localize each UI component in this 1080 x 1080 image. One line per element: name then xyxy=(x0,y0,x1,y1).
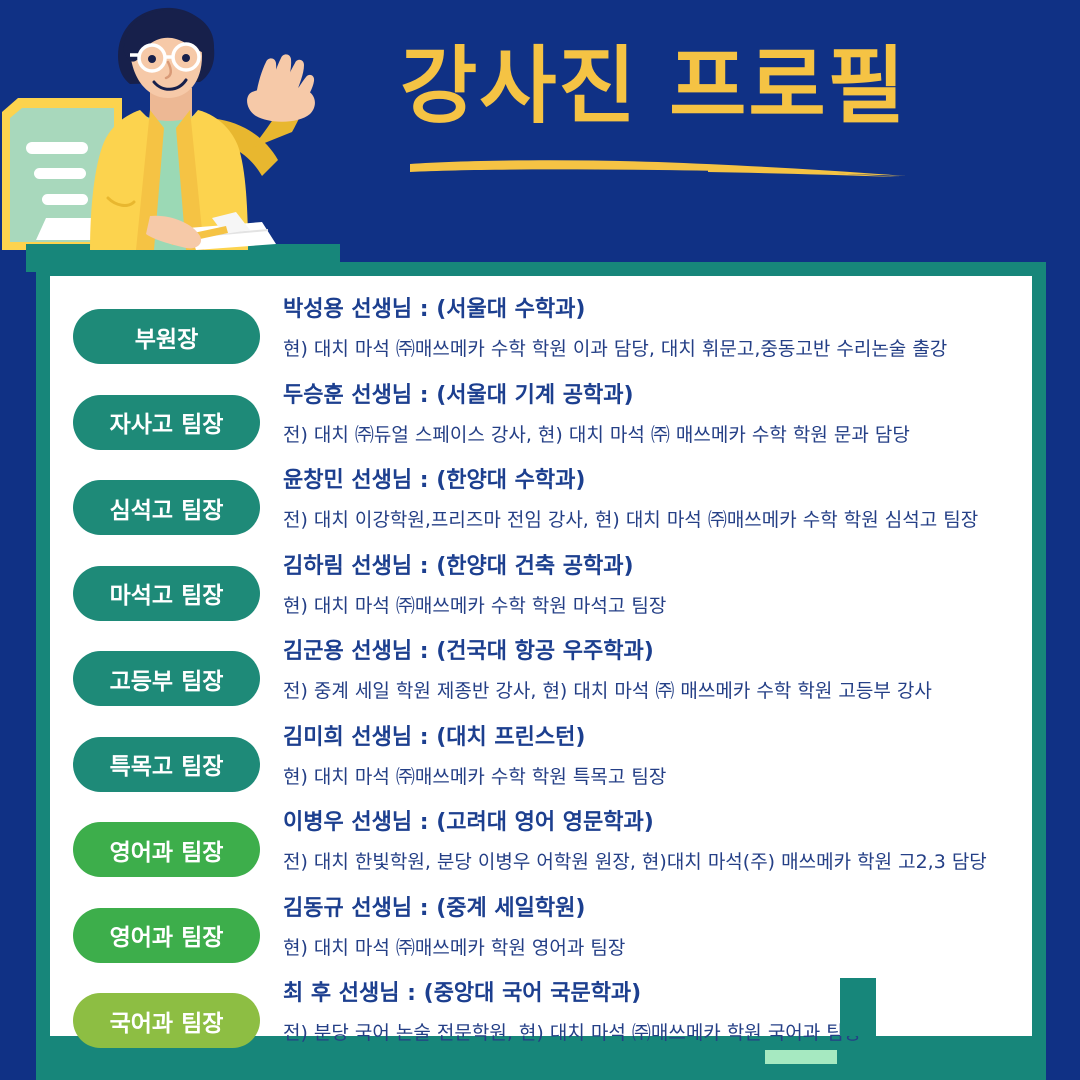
instructor-career: 전) 분당 국어 논술 전문학원, 현) 대치 마석 ㈜매쓰메카 학원 국어과 … xyxy=(283,1005,1028,1043)
instructor-text: 최 후 선생님 : (중앙대 국어 국문학과)전) 분당 국어 논술 전문학원,… xyxy=(283,980,1028,1043)
instructor-career: 전) 대치 이강학원,프리즈마 전임 강사, 현) 대치 마석 ㈜매쓰메카 수학… xyxy=(283,492,1028,530)
instructor-row: 영어과 팀장이병우 선생님 : (고려대 영어 영문학과)전) 대치 한빛학원,… xyxy=(50,809,1032,895)
instructor-career: 현) 대치 마석 ㈜매쓰메카 수학 학원 마석고 팀장 xyxy=(283,578,1028,616)
instructor-text: 윤창민 선생님 : (한양대 수학과)전) 대치 이강학원,프리즈마 전임 강사… xyxy=(283,467,1028,530)
instructor-name: 이병우 선생님 : (고려대 영어 영문학과) xyxy=(283,809,1028,834)
role-badge: 영어과 팀장 xyxy=(73,822,260,877)
instructor-row: 고등부 팀장김군용 선생님 : (건국대 항공 우주학과)전) 중계 세일 학원… xyxy=(50,638,1032,724)
page-title: 강사진 프로필 xyxy=(400,42,960,130)
role-badge: 국어과 팀장 xyxy=(73,993,260,1048)
instructors-card-frame: 부원장박성용 선생님 : (서울대 수학과)현) 대치 마석 ㈜매쓰메카 수학 … xyxy=(36,262,1046,1080)
card-mint-accent-bar xyxy=(765,1050,837,1064)
instructor-career: 전) 대치 한빛학원, 분당 이병우 어학원 원장, 현)대치 마석(주) 매쓰… xyxy=(283,834,1028,872)
instructor-career: 전) 중계 세일 학원 제종반 강사, 현) 대치 마석 ㈜ 매쓰메카 수학 학… xyxy=(283,663,1028,701)
raised-hand-icon xyxy=(247,54,315,121)
role-badge: 심석고 팀장 xyxy=(73,480,260,535)
instructor-row: 심석고 팀장윤창민 선생님 : (한양대 수학과)전) 대치 이강학원,프리즈마… xyxy=(50,467,1032,553)
page-header: 강사진 프로필 xyxy=(0,0,1080,262)
instructor-row: 자사고 팀장두승훈 선생님 : (서울대 기계 공학과)전) 대치 ㈜듀얼 스페… xyxy=(50,382,1032,468)
role-badge: 마석고 팀장 xyxy=(73,566,260,621)
instructor-name: 최 후 선생님 : (중앙대 국어 국문학과) xyxy=(283,980,1028,1005)
instructor-name: 두승훈 선생님 : (서울대 기계 공학과) xyxy=(283,382,1028,407)
title-block: 강사진 프로필 xyxy=(400,42,960,202)
instructor-text: 김미희 선생님 : (대치 프린스턴)현) 대치 마석 ㈜매쓰메카 수학 학원 … xyxy=(283,724,1028,787)
instructor-text: 김동규 선생님 : (중계 세일학원)현) 대치 마석 ㈜매쓰메카 학원 영어과… xyxy=(283,895,1028,958)
instructor-name: 윤창민 선생님 : (한양대 수학과) xyxy=(283,467,1028,492)
role-badge: 자사고 팀장 xyxy=(73,395,260,450)
role-badge: 특목고 팀장 xyxy=(73,737,260,792)
instructor-text: 김하림 선생님 : (한양대 건축 공학과)현) 대치 마석 ㈜매쓰메카 수학 … xyxy=(283,553,1028,616)
role-badge: 영어과 팀장 xyxy=(73,908,260,963)
instructor-name: 김군용 선생님 : (건국대 항공 우주학과) xyxy=(283,638,1028,663)
instructor-row: 마석고 팀장김하림 선생님 : (한양대 건축 공학과)현) 대치 마석 ㈜매쓰… xyxy=(50,553,1032,639)
instructor-list: 부원장박성용 선생님 : (서울대 수학과)현) 대치 마석 ㈜매쓰메카 수학 … xyxy=(50,276,1032,1036)
instructor-row: 국어과 팀장최 후 선생님 : (중앙대 국어 국문학과)전) 분당 국어 논술… xyxy=(50,980,1032,1066)
instructor-text: 두승훈 선생님 : (서울대 기계 공학과)전) 대치 ㈜듀얼 스페이스 강사,… xyxy=(283,382,1028,445)
role-badge: 부원장 xyxy=(73,309,260,364)
card-corner-notch xyxy=(840,978,876,1036)
instructor-career: 현) 대치 마석 ㈜매쓰메카 학원 영어과 팀장 xyxy=(283,920,1028,958)
title-underline-stroke xyxy=(408,154,908,182)
instructor-name: 김미희 선생님 : (대치 프린스턴) xyxy=(283,724,1028,749)
instructor-name: 김하림 선생님 : (한양대 건축 공학과) xyxy=(283,553,1028,578)
instructor-row: 영어과 팀장김동규 선생님 : (중계 세일학원)현) 대치 마석 ㈜매쓰메카 … xyxy=(50,895,1032,981)
instructor-text: 이병우 선생님 : (고려대 영어 영문학과)전) 대치 한빛학원, 분당 이병… xyxy=(283,809,1028,872)
instructor-row: 특목고 팀장김미희 선생님 : (대치 프린스턴)현) 대치 마석 ㈜매쓰메카 … xyxy=(50,724,1032,810)
instructor-row: 부원장박성용 선생님 : (서울대 수학과)현) 대치 마석 ㈜매쓰메카 수학 … xyxy=(50,296,1032,382)
instructors-card: 부원장박성용 선생님 : (서울대 수학과)현) 대치 마석 ㈜매쓰메카 수학 … xyxy=(50,276,1032,1036)
instructor-text: 박성용 선생님 : (서울대 수학과)현) 대치 마석 ㈜매쓰메카 수학 학원 … xyxy=(283,296,1028,359)
role-badge: 고등부 팀장 xyxy=(73,651,260,706)
instructor-career: 전) 대치 ㈜듀얼 스페이스 강사, 현) 대치 마석 ㈜ 매쓰메카 수학 학원… xyxy=(283,407,1028,445)
teacher-illustration xyxy=(0,0,340,272)
instructor-name: 김동규 선생님 : (중계 세일학원) xyxy=(283,895,1028,920)
instructor-name: 박성용 선생님 : (서울대 수학과) xyxy=(283,296,1028,321)
instructor-text: 김군용 선생님 : (건국대 항공 우주학과)전) 중계 세일 학원 제종반 강… xyxy=(283,638,1028,701)
instructor-career: 현) 대치 마석 ㈜매쓰메카 수학 학원 특목고 팀장 xyxy=(283,749,1028,787)
instructor-career: 현) 대치 마석 ㈜매쓰메카 수학 학원 이과 담당, 대치 휘문고,중동고반 … xyxy=(283,321,1028,359)
